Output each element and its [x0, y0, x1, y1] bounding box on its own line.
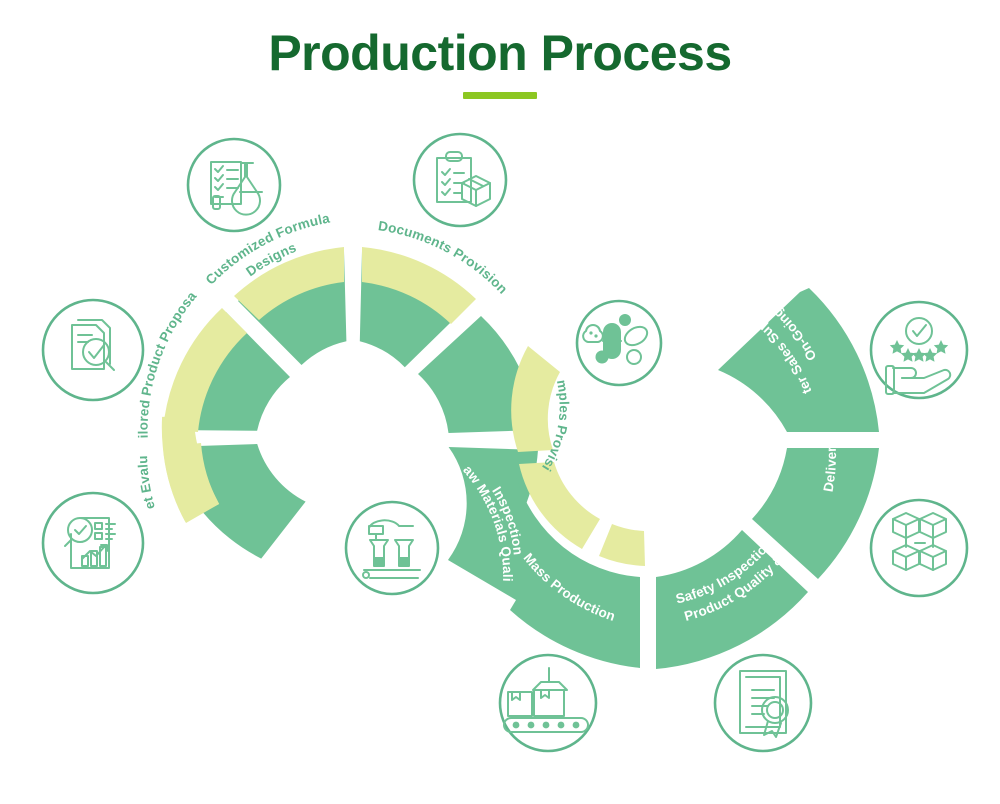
band-lower-inner-right[interactable]	[599, 524, 645, 566]
icon-product-quality-inspection[interactable]	[715, 655, 811, 751]
label-market-evaluation: Market Evaluation	[0, 0, 158, 511]
icon-raw-materials-inspection[interactable]	[346, 502, 438, 594]
production-process-diagram: Market Evaluation Tailored Product Propo…	[0, 0, 1000, 804]
icon-delivery[interactable]	[871, 500, 967, 596]
icon-tailored-product-proposals[interactable]	[43, 300, 143, 400]
infographic-page: Production Process	[0, 0, 1000, 804]
icon-after-sales-support[interactable]	[871, 302, 967, 398]
icon-samples-provision[interactable]	[577, 301, 661, 385]
icon-documents-provision[interactable]	[414, 134, 506, 226]
icon-mass-production[interactable]	[500, 655, 596, 751]
icon-market-evaluation[interactable]	[43, 493, 143, 593]
icon-customized-formula-designs[interactable]	[188, 139, 280, 231]
